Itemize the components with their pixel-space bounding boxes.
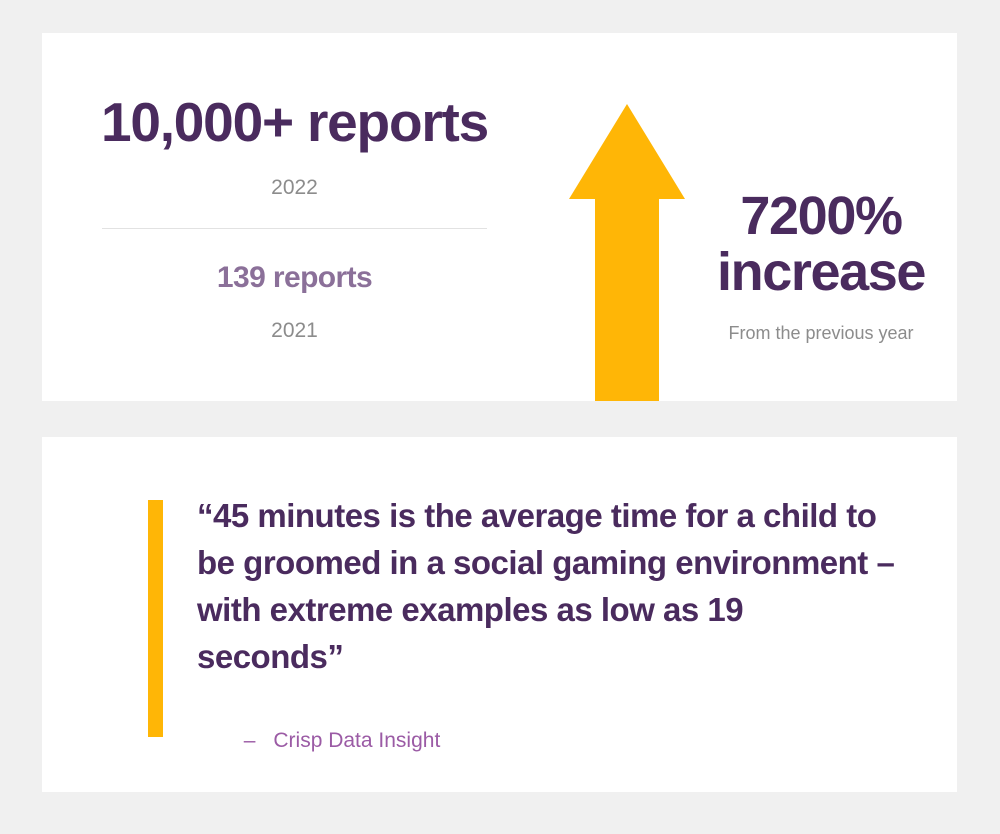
up-arrow-icon [567, 104, 687, 401]
attribution-dash: – [244, 729, 256, 752]
quote-card: “45 minutes is the average time for a ch… [42, 437, 957, 792]
trend-block: 7200% increase From the previous year [697, 188, 945, 342]
reports-comparison-block: 10,000+ reports 2022 139 reports 2021 [82, 95, 507, 341]
quote-body: “45 minutes is the average time for a ch… [197, 492, 897, 772]
quote-attribution: –Crisp Data Insight [197, 709, 897, 772]
secondary-stat-value: 139 reports [82, 263, 507, 293]
primary-stat-value: 10,000+ reports [82, 95, 507, 150]
trend-unit-label: increase [697, 244, 945, 300]
stats-divider [102, 228, 487, 229]
trend-caption: From the previous year [697, 324, 945, 342]
stats-card: 10,000+ reports 2022 139 reports 2021 72… [42, 33, 957, 401]
trend-percentage: 7200% [697, 188, 945, 244]
infographic-page: 10,000+ reports 2022 139 reports 2021 72… [0, 0, 1000, 834]
secondary-stat-year: 2021 [82, 320, 507, 341]
primary-stat-year: 2022 [82, 177, 507, 198]
attribution-source: Crisp Data Insight [273, 729, 440, 752]
quote-accent-bar [148, 500, 163, 737]
quote-text: “45 minutes is the average time for a ch… [197, 492, 897, 680]
